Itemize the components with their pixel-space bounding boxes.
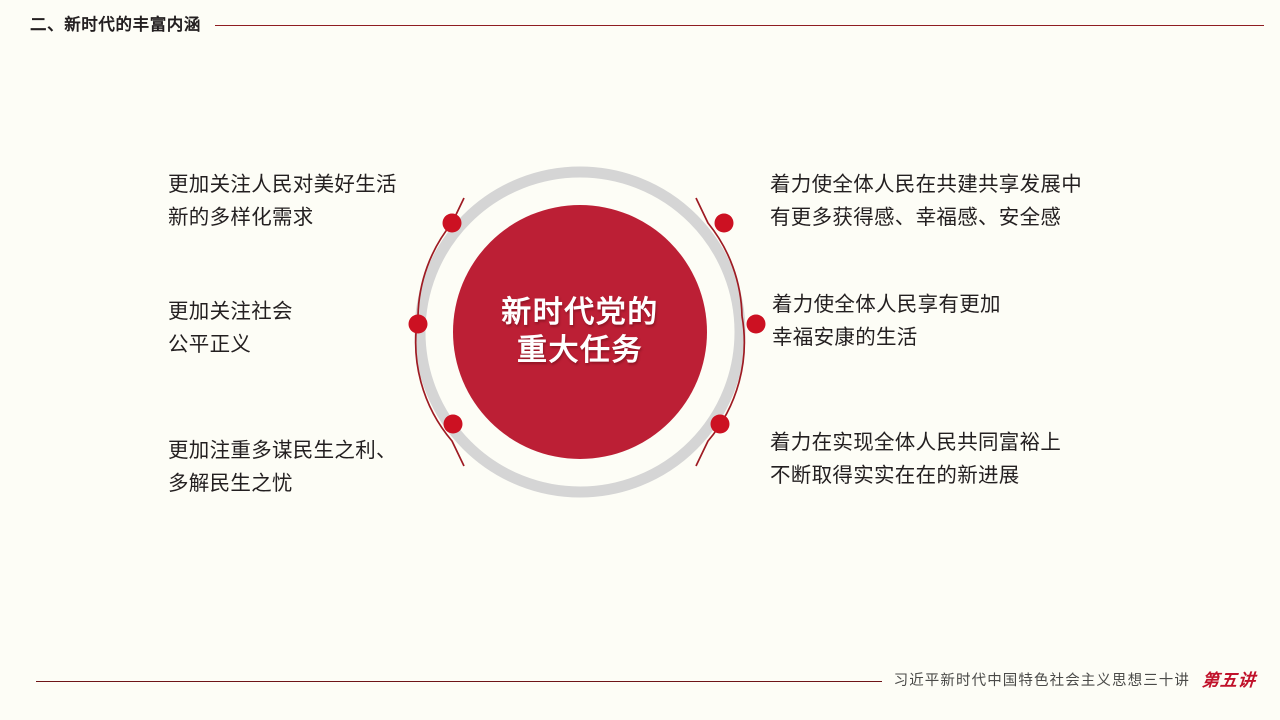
diagram-item-right-middle: 着力使全体人民享有更加 幸福安康的生活 <box>772 288 1001 354</box>
page-title: 二、新时代的丰富内涵 <box>30 17 201 34</box>
diagram-svg <box>390 142 770 522</box>
diagram-item-left-top: 更加关注人民对美好生活 新的多样化需求 <box>168 168 397 234</box>
item-line: 着力使全体人民在共建共享发展中 <box>770 168 1082 201</box>
node-dot-left-middle[interactable] <box>409 315 428 334</box>
footer-course-title: 习近平新时代中国特色社会主义思想三十讲 <box>894 674 1190 689</box>
item-line: 着力使全体人民享有更加 <box>772 288 1001 321</box>
item-line: 多解民生之忧 <box>168 467 397 500</box>
item-line: 更加关注社会 <box>168 295 293 328</box>
item-line: 有更多获得感、幸福感、安全感 <box>770 201 1082 234</box>
item-line: 更加关注人民对美好生活 <box>168 168 397 201</box>
node-dot-right-middle[interactable] <box>747 315 766 334</box>
node-dot-left-bottom[interactable] <box>444 415 463 434</box>
slide-canvas: 二、新时代的丰富内涵 更加关注人民对美好生活 新的多样化需求 更加关注社会 公平… <box>0 0 1280 720</box>
footer-lecture-stamp: 第五讲 <box>1201 673 1256 690</box>
item-line: 新的多样化需求 <box>168 201 397 234</box>
diagram-item-right-bottom: 着力在实现全体人民共同富裕上 不断取得实实在在的新进展 <box>770 426 1061 492</box>
slide-footer: 习近平新时代中国特色社会主义思想三十讲 第五讲 <box>36 664 1256 698</box>
item-line: 幸福安康的生活 <box>772 321 1001 354</box>
node-dot-right-bottom[interactable] <box>711 415 730 434</box>
diagram-item-left-bottom: 更加注重多谋民生之利、 多解民生之忧 <box>168 434 397 500</box>
diagram-item-left-middle: 更加关注社会 公平正义 <box>168 295 293 361</box>
footer-divider <box>36 681 882 682</box>
item-line: 不断取得实实在在的新进展 <box>770 459 1061 492</box>
slide-header: 二、新时代的丰富内涵 <box>30 12 1264 38</box>
item-line: 公平正义 <box>168 328 293 361</box>
header-divider <box>215 25 1264 26</box>
diagram-item-right-top: 着力使全体人民在共建共享发展中 有更多获得感、幸福感、安全感 <box>770 168 1082 234</box>
central-circle-diagram: 新时代党的 重大任务 <box>390 142 770 522</box>
node-dot-left-top[interactable] <box>443 214 462 233</box>
item-line: 着力在实现全体人民共同富裕上 <box>770 426 1061 459</box>
node-dot-right-top[interactable] <box>715 214 734 233</box>
item-line: 更加注重多谋民生之利、 <box>168 434 397 467</box>
center-red-disc <box>453 205 707 459</box>
